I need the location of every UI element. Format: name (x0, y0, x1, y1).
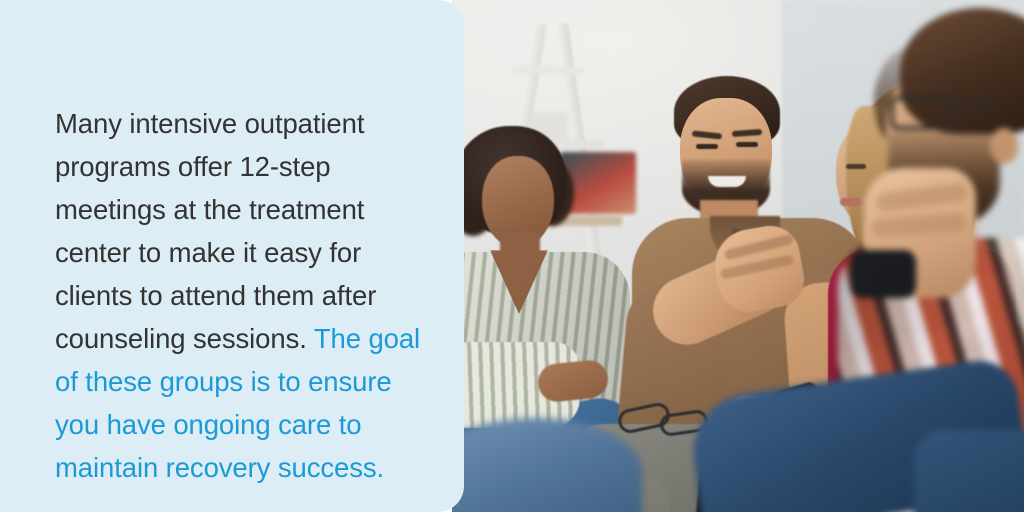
ear (990, 128, 1018, 164)
blue-jeans-lower (914, 430, 1024, 512)
paragraph-lead: Many intensive outpatient programs offer… (55, 108, 376, 354)
panel-paragraph: Many intensive outpatient programs offer… (55, 102, 427, 489)
mouth (708, 176, 746, 187)
group-therapy-photo (452, 0, 1024, 512)
person-foreground-knee (452, 418, 642, 512)
ladder-shelf-tier-1 (512, 65, 584, 74)
text-panel: Many intensive outpatient programs offer… (0, 0, 464, 512)
denim-knee (452, 418, 642, 512)
wristwatch (850, 250, 916, 298)
eye-right (736, 142, 758, 147)
person-man-plaid-shirt (804, 0, 1024, 512)
eye-left (696, 144, 718, 149)
banner-canvas: Many intensive outpatient programs offer… (0, 0, 1024, 512)
eyeglasses (890, 96, 956, 130)
